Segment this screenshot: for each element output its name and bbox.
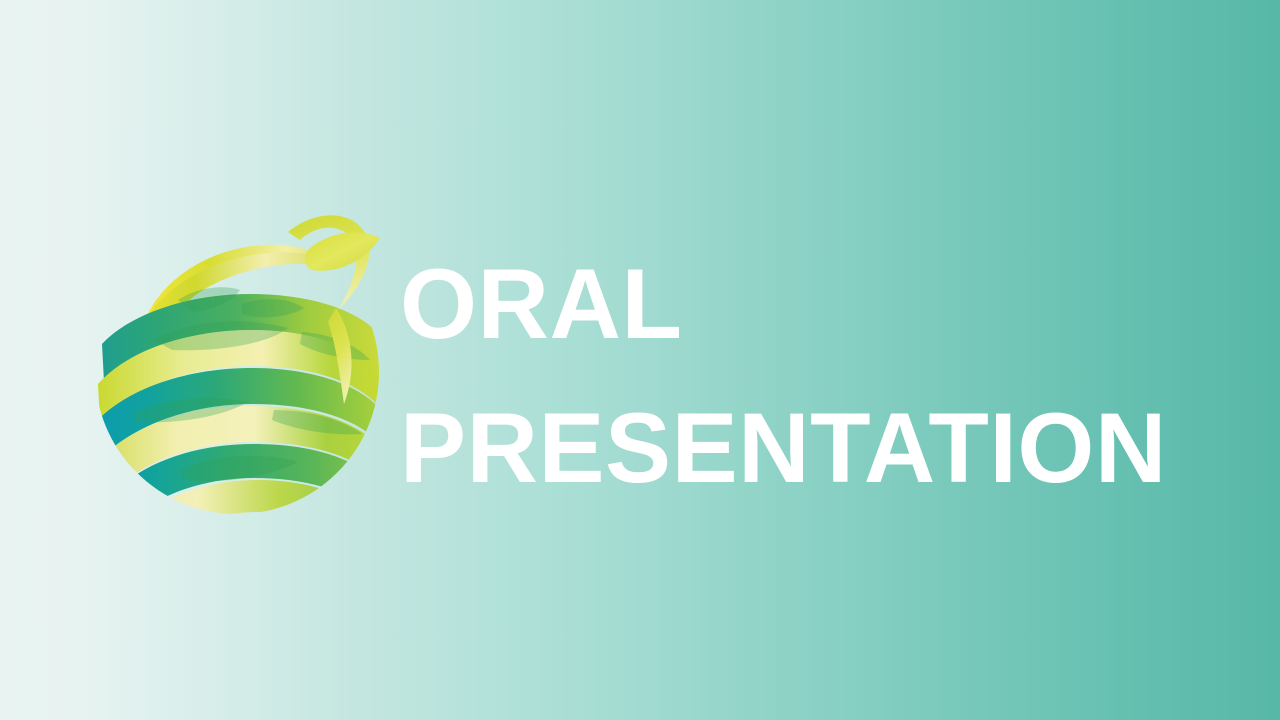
presentation-slide: ORAL PRESENTATION [0,0,1280,720]
title-line-2: PRESENTATION [400,376,1200,520]
globe-ribbon-logo [92,204,382,516]
slide-title: ORAL PRESENTATION [400,232,1200,520]
globe-ribbons [94,245,382,516]
title-line-1: ORAL [400,232,1200,376]
